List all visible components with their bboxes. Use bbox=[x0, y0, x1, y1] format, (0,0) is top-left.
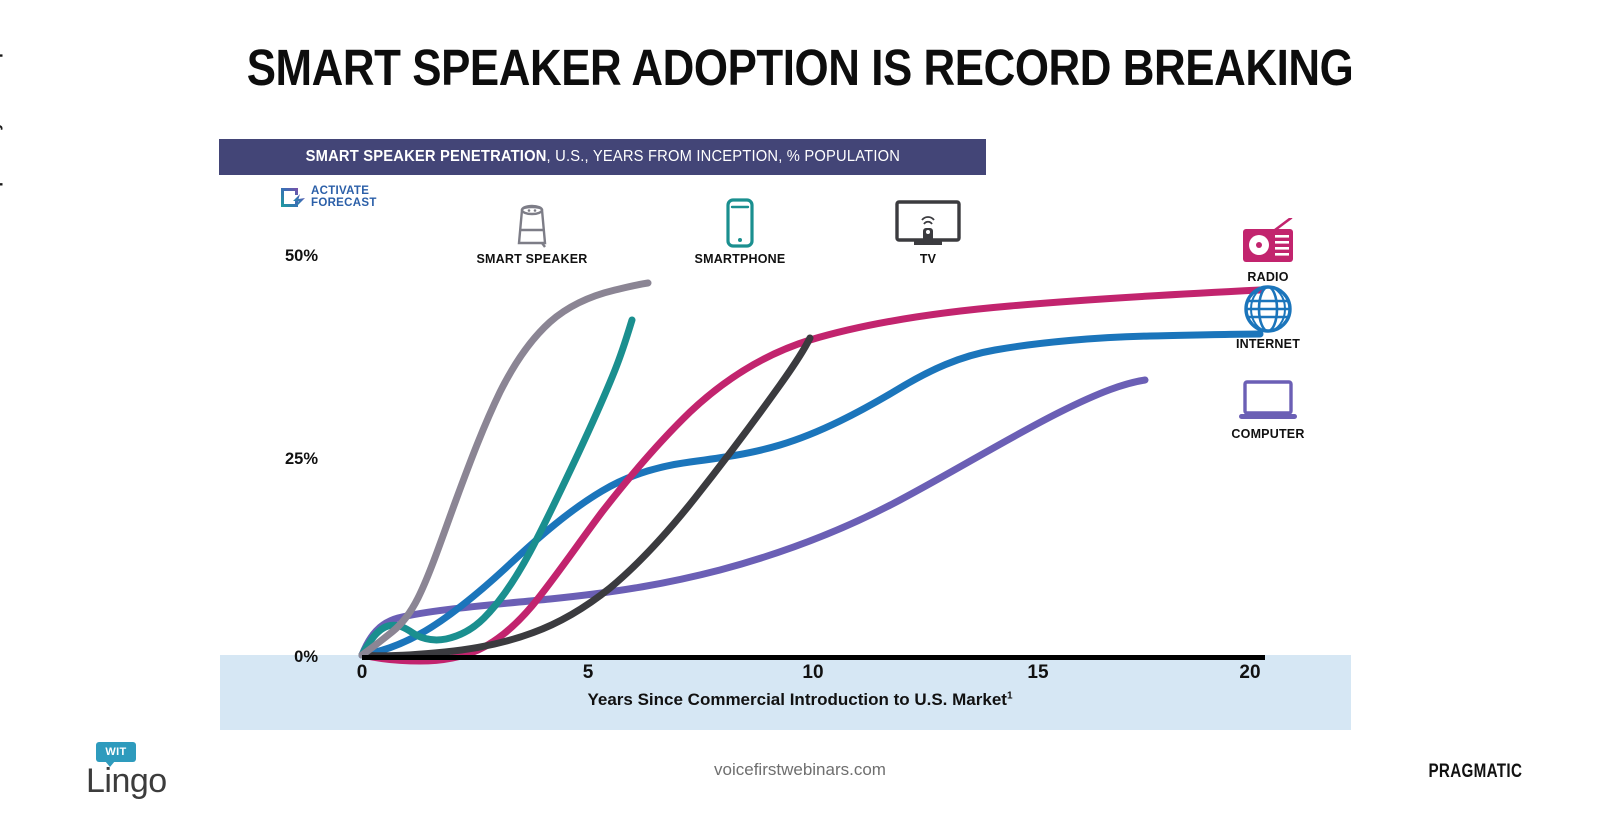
wit-badge-text: WIT bbox=[105, 746, 126, 758]
radio-icon bbox=[1198, 214, 1338, 268]
smartphone-icon bbox=[660, 196, 820, 250]
series-label-smart-speaker: SMART SPEAKER bbox=[452, 196, 612, 266]
pragmatic-logo: PRAGMATIC bbox=[1428, 761, 1522, 783]
series-label-text: INTERNET bbox=[1198, 337, 1338, 351]
series-label-internet: INTERNET bbox=[1198, 281, 1338, 351]
x-axis-title-text: Years Since Commercial Introduction to U… bbox=[587, 690, 1006, 709]
page-title: SMART SPEAKER ADOPTION IS RECORD BREAKIN… bbox=[112, 38, 1488, 97]
tv-icon bbox=[848, 196, 1008, 250]
x-tick-5: 5 bbox=[568, 662, 608, 684]
series-label-computer: COMPUTER bbox=[1198, 371, 1338, 441]
x-axis-line bbox=[362, 655, 1265, 660]
slide-root: SMART SPEAKER ADOPTION IS RECORD BREAKIN… bbox=[0, 0, 1600, 827]
footer-website[interactable]: voicefirstwebinars.com bbox=[0, 760, 1600, 780]
series-label-text: TV bbox=[848, 252, 1008, 266]
x-tick-15: 15 bbox=[1018, 662, 1058, 684]
series-label-text: SMARTPHONE bbox=[660, 252, 820, 266]
series-label-smartphone: SMARTPHONE bbox=[660, 196, 820, 266]
x-axis-footnote-marker: 1 bbox=[1007, 690, 1013, 701]
series-label-radio: RADIO bbox=[1198, 214, 1338, 284]
x-tick-10: 10 bbox=[793, 662, 833, 684]
series-line-tv bbox=[362, 338, 810, 656]
y-axis-title: Percent Adoption by U.S. Population bbox=[0, 0, 4, 285]
internet-icon bbox=[1198, 281, 1338, 335]
series-line-smart-speaker bbox=[362, 283, 648, 655]
x-tick-20: 20 bbox=[1230, 662, 1270, 684]
series-label-tv: TV bbox=[848, 196, 1008, 266]
wit-badge: WIT bbox=[96, 742, 136, 762]
smart-speaker-icon bbox=[452, 196, 612, 250]
series-label-text: SMART SPEAKER bbox=[452, 252, 612, 266]
x-axis-title: Years Since Commercial Introduction to U… bbox=[0, 690, 1600, 710]
x-tick-0: 0 bbox=[342, 662, 382, 684]
series-label-text: COMPUTER bbox=[1198, 427, 1338, 441]
computer-icon bbox=[1198, 371, 1338, 425]
